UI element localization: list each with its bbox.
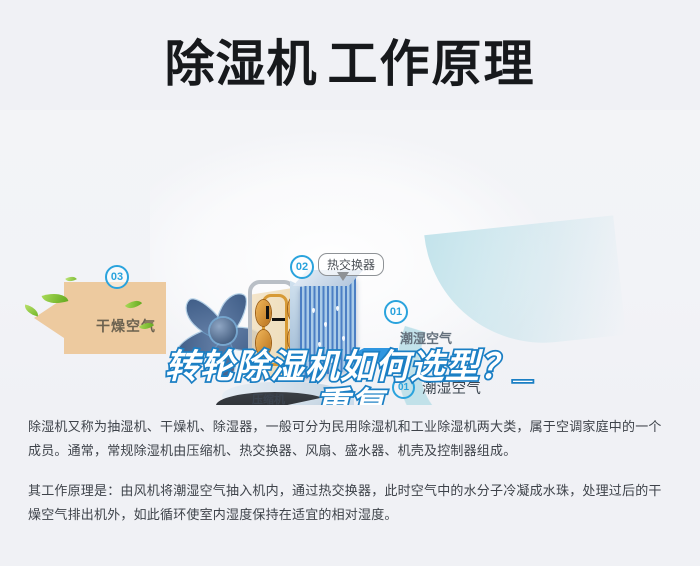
legend-item: 02 潮湿空气经过蒸发器冷凝成水珠 [392, 403, 692, 405]
legend-badge-01: 01 [392, 376, 415, 399]
moist-air-label: 潮湿空气 [400, 328, 452, 347]
coil-ring [256, 330, 271, 356]
article-body: 除湿机又称为抽湿机、干燥机、除湿器，一般可分为民用除湿机和工业除湿机两大类，属于… [28, 416, 674, 528]
paragraph-2: 其工作原理是：由风机将潮湿空气抽入机内，通过热交换器，此时空气中的水分子冷凝成水… [28, 480, 674, 528]
diagram-legend: 01 潮湿空气 02 潮湿空气经过蒸发器冷凝成水珠 03 从上部出风口吹出清新干… [392, 372, 692, 405]
legend-item: 01 潮湿空气 [392, 372, 692, 403]
paragraph-1: 除湿机又称为抽湿机、干燥机、除湿器，一般可分为民用除湿机和工业除湿机两大类，属于… [28, 416, 674, 464]
page-root: 除湿机工作原理 干燥空气 [0, 0, 700, 566]
callout-badge-02: 02 [290, 255, 314, 279]
title-part-2: 工作原理 [328, 35, 536, 93]
dehumidifier-diagram: 干燥空气 [0, 110, 700, 405]
flow-arrow-icon [266, 306, 269, 319]
leaf-icon [23, 305, 40, 317]
heat-exchanger-callout-bubble: 热交换器 [318, 253, 384, 276]
page-title: 除湿机工作原理 [0, 28, 700, 100]
legend-text: 潮湿空气 [422, 377, 481, 398]
air-intake-arrow-icon [352, 348, 398, 361]
fan-hub [210, 318, 236, 344]
title-part-1: 除湿机 [165, 35, 318, 93]
callout-badge-01: 01 [384, 300, 408, 324]
callout-badge-03: 03 [105, 265, 129, 289]
callout-bubble-tail-icon [337, 272, 349, 281]
flow-arrow-icon [272, 318, 285, 321]
evaporator-fins-icon [300, 277, 356, 379]
compressor-label: 压缩机 [252, 391, 285, 405]
page-title-text: 除湿机工作原理 [165, 39, 536, 89]
